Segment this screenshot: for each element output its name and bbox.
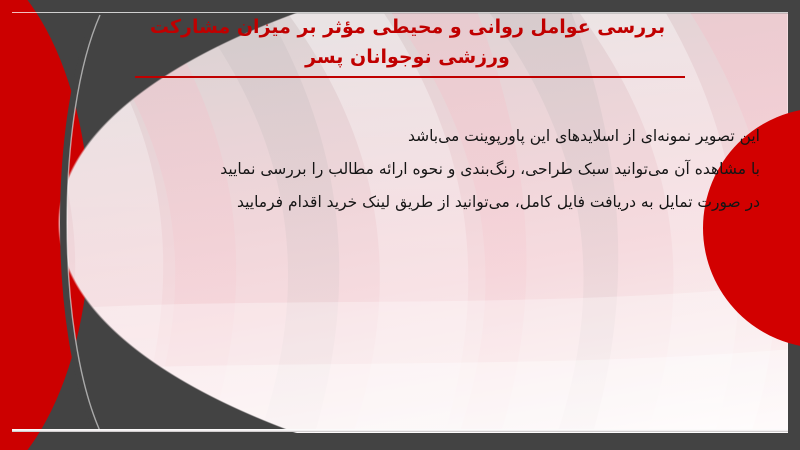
slide-title-line-2: ورزشی نوجوانان پسر [120, 42, 695, 72]
title-divider-rule [135, 76, 685, 78]
slide-title-line-1: بررسی عوامل روانی و محیطی مؤثر بر میزان … [120, 12, 695, 42]
slide-canvas: بررسی عوامل روانی و محیطی مؤثر بر میزان … [0, 0, 800, 450]
slide-body-text: این تصویر نمونه‌ای از اسلایدهای این پاور… [60, 120, 760, 219]
slide-title: بررسی عوامل روانی و محیطی مؤثر بر میزان … [120, 12, 695, 72]
slide-body-line-2: با مشاهده آن می‌توانید سبک طراحی، رنگ‌بن… [60, 153, 760, 186]
slide-body-line-1: این تصویر نمونه‌ای از اسلایدهای این پاور… [60, 120, 760, 153]
slide-body-line-3: در صورت تمایل به دریافت فایل کامل، می‌تو… [60, 186, 760, 219]
panel-bottom-highlight [12, 429, 788, 432]
